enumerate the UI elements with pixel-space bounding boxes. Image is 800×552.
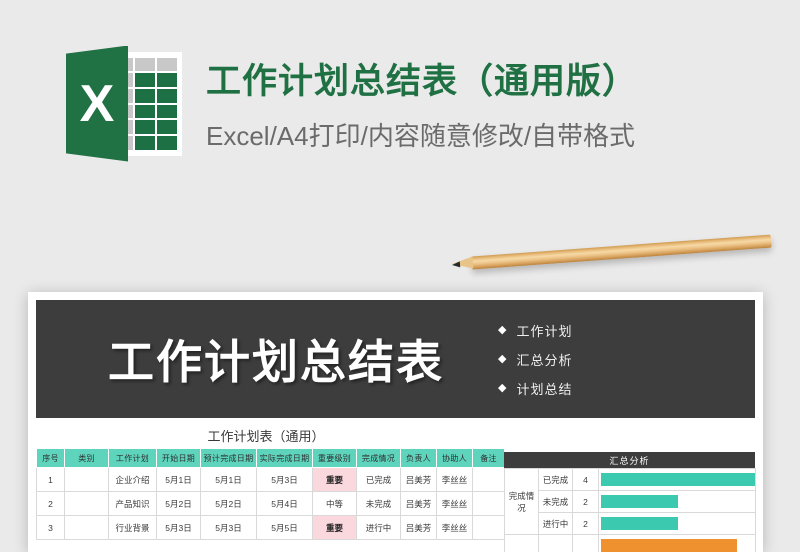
summary-category-label: 进行中: [539, 513, 573, 535]
diamond-icon: ◆: [498, 354, 507, 365]
summary-category-label: [539, 535, 573, 552]
promo-header: X 工作计划总结表（通用版） Excel/A4打印/内容随意修改/自带格式: [0, 0, 800, 215]
document-banner-title: 工作计划总结表: [108, 326, 444, 392]
cell-category: [65, 516, 109, 540]
bullet-item: ◆ 工作计划: [498, 321, 572, 340]
cell-priority: 重要: [313, 468, 357, 492]
col-header-owner: 负责人: [401, 449, 437, 468]
card-right-edge: [759, 292, 763, 552]
cell-priority: 重要: [313, 516, 357, 540]
cell-plan: 行业背景: [109, 516, 157, 540]
cell-plan: 产品知识: [109, 492, 157, 516]
cell-category: [65, 492, 109, 516]
col-header-start-date: 开始日期: [157, 449, 201, 468]
table-header-row: 序号 类别 工作计划 开始日期 预计完成日期 实际完成日期 重要级别 完成情况 …: [37, 449, 505, 468]
summary-row: 未完成 2: [505, 491, 756, 513]
document-preview-card: 工作计划总结表 ◆ 工作计划 ◆ 汇总分析 ◆ 计划总结 工作计划表（通用） 汇…: [28, 292, 763, 552]
promo-title: 工作计划总结表（通用版）: [206, 62, 638, 102]
cell-actual-date: 5月3日: [257, 468, 313, 492]
cell-actual-date: 5月4日: [257, 492, 313, 516]
col-header-status: 完成情况: [357, 449, 401, 468]
cell-owner: 吕美芳: [401, 492, 437, 516]
document-banner-bullets: ◆ 工作计划 ◆ 汇总分析 ◆ 计划总结: [498, 321, 572, 398]
summary-group-label-next: [505, 535, 539, 552]
summary-bar: [601, 517, 678, 530]
pencil-body: [471, 235, 771, 270]
bullet-label: 计划总结: [516, 379, 572, 398]
summary-group-label: 完成情况: [505, 469, 539, 535]
cell-assistant: 李丝丝: [437, 516, 473, 540]
cell-start-date: 5月3日: [157, 516, 201, 540]
document-banner: 工作计划总结表 ◆ 工作计划 ◆ 汇总分析 ◆ 计划总结: [36, 300, 755, 418]
summary-category-label: 未完成: [539, 491, 573, 513]
diamond-icon: ◆: [498, 383, 507, 394]
cell-remark: [473, 516, 505, 540]
col-header-expected-date: 预计完成日期: [201, 449, 257, 468]
col-header-plan: 工作计划: [109, 449, 157, 468]
bullet-item: ◆ 计划总结: [498, 379, 572, 398]
col-header-index: 序号: [37, 449, 65, 468]
col-header-remark: 备注: [473, 449, 505, 468]
pencil-icon: [452, 235, 772, 271]
cell-expected-date: 5月1日: [201, 468, 257, 492]
summary-value: 2: [573, 513, 599, 535]
promo-text-block: 工作计划总结表（通用版） Excel/A4打印/内容随意修改/自带格式: [206, 62, 638, 153]
cell-assistant: 李丝丝: [437, 468, 473, 492]
sheet-caption-row: 工作计划表（通用）: [36, 422, 755, 448]
cell-remark: [473, 468, 505, 492]
summary-value: [573, 535, 599, 552]
cell-index: 1: [37, 468, 65, 492]
cell-owner: 吕美芳: [401, 516, 437, 540]
cell-index: 3: [37, 516, 65, 540]
bullet-label: 工作计划: [516, 321, 572, 340]
summary-bar: [601, 473, 755, 486]
table-row[interactable]: 1 企业介绍 5月1日 5月1日 5月3日 重要 已完成 吕美芳 李丝丝: [37, 468, 505, 492]
summary-value: 4: [573, 469, 599, 491]
summary-bar-cell: [599, 513, 756, 535]
cell-plan: 企业介绍: [109, 468, 157, 492]
summary-bar-cell: [599, 535, 756, 552]
excel-logo: X: [66, 46, 182, 162]
spreadsheet-area: 工作计划表（通用） 汇总分析 序号 类别 工作计划 开始日期 预计完成日期 实际…: [36, 422, 755, 540]
excel-logo-letter: X: [66, 46, 128, 162]
cell-status: 已完成: [357, 468, 401, 492]
summary-analysis-block: 完成情况 已完成 4 未完成 2: [504, 468, 755, 552]
col-header-assistant: 协助人: [437, 449, 473, 468]
col-header-priority: 重要级别: [313, 449, 357, 468]
summary-bar: [601, 495, 678, 508]
promo-subtitle: Excel/A4打印/内容随意修改/自带格式: [206, 116, 638, 153]
work-plan-table: 序号 类别 工作计划 开始日期 预计完成日期 实际完成日期 重要级别 完成情况 …: [36, 448, 505, 540]
col-header-actual-date: 实际完成日期: [257, 449, 313, 468]
summary-row-clipped: [505, 535, 756, 552]
cell-priority: 中等: [313, 492, 357, 516]
summary-chart-table: 完成情况 已完成 4 未完成 2: [504, 468, 756, 552]
summary-bar-alt: [601, 539, 737, 552]
bullet-label: 汇总分析: [516, 350, 572, 369]
cell-actual-date: 5月5日: [257, 516, 313, 540]
cell-start-date: 5月2日: [157, 492, 201, 516]
cell-expected-date: 5月2日: [201, 492, 257, 516]
diamond-icon: ◆: [498, 325, 507, 336]
pencil-lead: [452, 261, 460, 268]
summary-category-label: 已完成: [539, 469, 573, 491]
cell-start-date: 5月1日: [157, 468, 201, 492]
sheet-caption: 工作计划表（通用）: [36, 422, 496, 448]
cell-index: 2: [37, 492, 65, 516]
summary-row: 完成情况 已完成 4: [505, 469, 756, 491]
table-row[interactable]: 3 行业背景 5月3日 5月3日 5月5日 重要 进行中 吕美芳 李丝丝: [37, 516, 505, 540]
cell-owner: 吕美芳: [401, 468, 437, 492]
cell-status: 未完成: [357, 492, 401, 516]
summary-bar-cell: [599, 491, 756, 513]
summary-value: 2: [573, 491, 599, 513]
summary-bar-cell: [599, 469, 756, 491]
cell-remark: [473, 492, 505, 516]
cell-category: [65, 468, 109, 492]
summary-row: 进行中 2: [505, 513, 756, 535]
table-row[interactable]: 2 产品知识 5月2日 5月2日 5月4日 中等 未完成 吕美芳 李丝丝: [37, 492, 505, 516]
summary-analysis-header: 汇总分析: [504, 452, 755, 468]
cell-expected-date: 5月3日: [201, 516, 257, 540]
col-header-category: 类别: [65, 449, 109, 468]
cell-assistant: 李丝丝: [437, 492, 473, 516]
cell-status: 进行中: [357, 516, 401, 540]
bullet-item: ◆ 汇总分析: [498, 350, 572, 369]
